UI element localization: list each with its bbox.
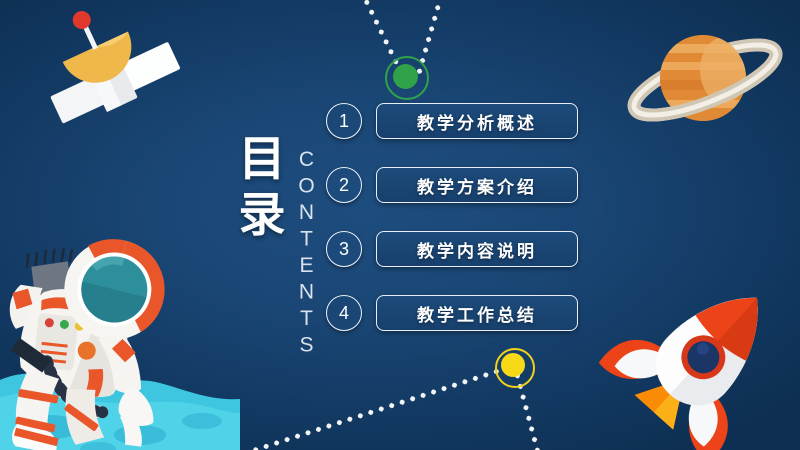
contents-item-1[interactable]: 1 教学分析概述 — [326, 102, 578, 140]
contents-item-1-number: 1 — [326, 103, 362, 139]
contents-item-2[interactable]: 2 教学方案介绍 — [326, 166, 578, 204]
green-node-core — [393, 64, 418, 89]
contents-item-3-pill[interactable]: 教学内容说明 — [376, 231, 578, 267]
contents-item-3[interactable]: 3 教学内容说明 — [326, 230, 578, 268]
saturn-planet-icon — [618, 18, 793, 143]
contents-item-2-label: 教学方案介绍 — [417, 173, 537, 198]
green-orbit-node — [385, 56, 429, 100]
contents-item-3-number: 3 — [326, 231, 362, 267]
astronaut-icon — [0, 228, 204, 450]
page-title-cn-line1: 目 — [228, 132, 298, 188]
page-title-en: CONTENTS — [294, 148, 318, 313]
dotted-line-top-right — [416, 0, 509, 77]
contents-item-1-label: 教学分析概述 — [417, 109, 537, 134]
contents-item-2-pill[interactable]: 教学方案介绍 — [376, 167, 578, 203]
yellow-node-core — [501, 353, 525, 377]
contents-item-4[interactable]: 4 教学工作总结 — [326, 294, 578, 332]
contents-item-1-pill[interactable]: 教学分析概述 — [376, 103, 578, 139]
contents-item-4-label: 教学工作总结 — [417, 301, 537, 326]
yellow-orbit-node — [495, 348, 537, 390]
page-title-cn: 目 录 — [228, 132, 298, 244]
contents-item-2-number: 2 — [326, 167, 362, 203]
page-title-cn-line2: 录 — [228, 188, 298, 244]
contents-block: 目 录 CONTENTS 1 教学分析概述 2 教学方案介绍 3 教学内容说明 … — [222, 96, 592, 354]
dotted-line-bottom-left — [197, 364, 512, 450]
contents-item-4-pill[interactable]: 教学工作总结 — [376, 295, 578, 331]
satellite-icon — [10, 8, 210, 158]
rocket-icon — [600, 272, 800, 450]
slide-canvas: 目 录 CONTENTS 1 教学分析概述 2 教学方案介绍 3 教学内容说明 … — [0, 0, 800, 450]
contents-item-4-number: 4 — [326, 295, 362, 331]
contents-item-3-label: 教学内容说明 — [417, 237, 537, 262]
